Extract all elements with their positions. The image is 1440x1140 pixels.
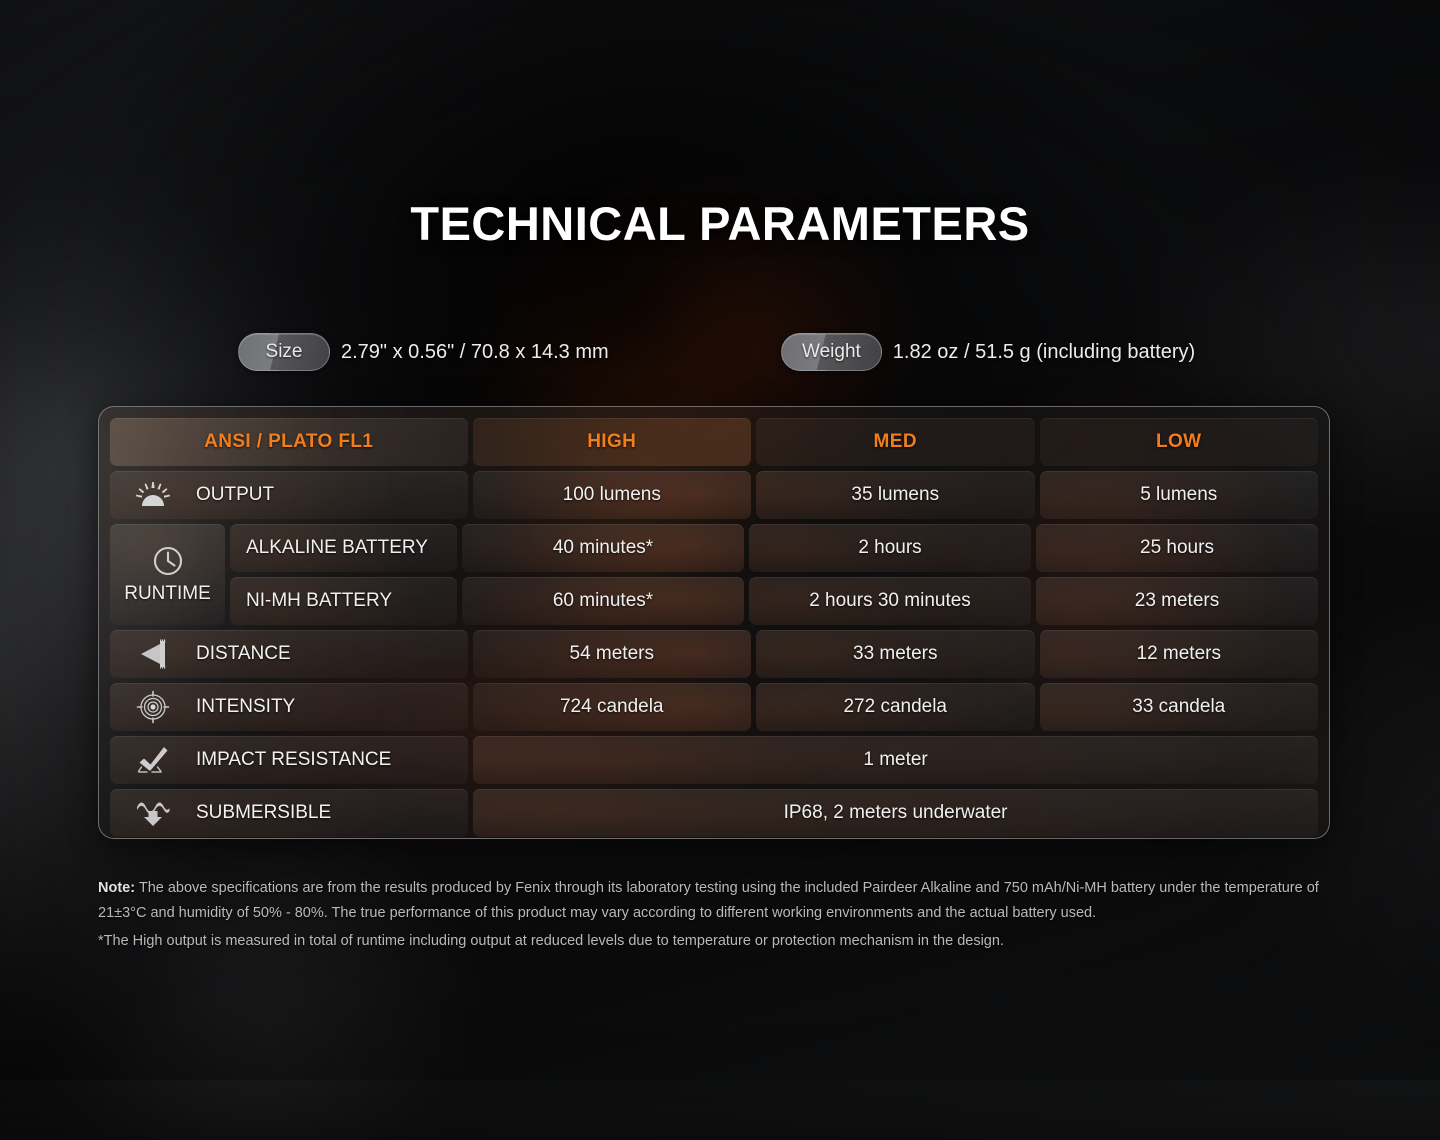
header-label-high: HIGH <box>587 431 636 453</box>
note-label: Note: <box>98 880 135 896</box>
impact-icon <box>110 745 196 775</box>
table-row-impact-resistance: IMPACT RESISTANCE 1 meter <box>110 736 1318 784</box>
row-label-text-impact-resistance: IMPACT RESISTANCE <box>196 749 391 771</box>
row-label-impact-resistance: IMPACT RESISTANCE <box>110 736 468 784</box>
row-label-intensity: INTENSITY <box>110 683 468 731</box>
parameters-table: ANSI / PLATO FL1 HIGH MED LOW <box>98 406 1330 839</box>
technical-parameters-page: TECHNICAL PARAMETERS Size 2.79" x 0.56" … <box>0 0 1440 1080</box>
table-row-output: OUTPUT 100 lumens 35 lumens 5 lumens <box>110 471 1318 519</box>
note-body: The above specifications are from the re… <box>98 880 1319 921</box>
runtime-subrows: ALKALINE BATTERY 40 minutes* 2 hours 25 … <box>230 524 1318 625</box>
sublabel-alkaline-battery: ALKALINE BATTERY <box>230 524 457 572</box>
spec-weight-value: 1.82 oz / 51.5 g (including battery) <box>893 341 1195 364</box>
row-label-output: OUTPUT <box>110 471 468 519</box>
table-subrow-alkaline: ALKALINE BATTERY 40 minutes* 2 hours 25 … <box>230 524 1318 572</box>
table-subrow-nimh: NI-MH BATTERY 60 minutes* 2 hours 30 min… <box>230 577 1318 625</box>
note-footnote: *The High output is measured in total of… <box>98 929 1338 954</box>
row-label-text-output: OUTPUT <box>196 484 274 506</box>
spec-size-pill: Size <box>238 333 330 371</box>
row-label-submersible: SUBMERSIBLE <box>110 789 468 837</box>
row-label-text-submersible: SUBMERSIBLE <box>196 802 331 824</box>
header-label-med: MED <box>874 431 917 453</box>
table-row-runtime: RUNTIME ALKALINE BATTERY 40 minutes* 2 h… <box>110 524 1318 625</box>
header-label-ansi: ANSI / PLATO FL1 <box>204 431 373 453</box>
page-title: TECHNICAL PARAMETERS <box>0 196 1440 251</box>
submersible-icon <box>110 799 196 827</box>
sunburst-icon <box>110 482 196 508</box>
beam-distance-icon <box>110 639 196 669</box>
cell-nimh-low: 23 meters <box>1036 577 1318 625</box>
cell-submersible-value: IP68, 2 meters underwater <box>473 789 1318 837</box>
spec-size: Size 2.79" x 0.56" / 70.8 x 14.3 mm <box>238 333 609 371</box>
cell-distance-med: 33 meters <box>756 630 1035 678</box>
cell-distance-high: 54 meters <box>473 630 752 678</box>
header-cell-high: HIGH <box>473 418 752 466</box>
sublabel-nimh-battery: NI-MH BATTERY <box>230 577 457 625</box>
header-cell-standard: ANSI / PLATO FL1 <box>110 418 468 466</box>
row-label-text-runtime: RUNTIME <box>124 583 211 605</box>
cell-alkaline-high: 40 minutes* <box>462 524 744 572</box>
spec-size-value: 2.79" x 0.56" / 70.8 x 14.3 mm <box>341 341 609 364</box>
target-icon <box>110 690 196 724</box>
clock-icon <box>152 545 184 577</box>
note-paragraph: Note: The above specifications are from … <box>98 876 1338 926</box>
table-header-row: ANSI / PLATO FL1 HIGH MED LOW <box>110 418 1318 466</box>
cell-alkaline-med: 2 hours <box>749 524 1031 572</box>
cell-intensity-low: 33 candela <box>1040 683 1319 731</box>
header-cell-low: LOW <box>1040 418 1319 466</box>
spec-weight-pill: Weight <box>781 333 882 371</box>
cell-impact-resistance-value: 1 meter <box>473 736 1318 784</box>
table-row-intensity: INTENSITY 724 candela 272 candela 33 can… <box>110 683 1318 731</box>
spec-weight: Weight 1.82 oz / 51.5 g (including batte… <box>781 333 1195 371</box>
row-label-text-distance: DISTANCE <box>196 643 291 665</box>
table-row-submersible: SUBMERSIBLE IP68, 2 meters underwater <box>110 789 1318 837</box>
cell-output-high: 100 lumens <box>473 471 752 519</box>
cell-intensity-med: 272 candela <box>756 683 1035 731</box>
row-label-distance: DISTANCE <box>110 630 468 678</box>
row-label-runtime: RUNTIME <box>110 524 225 625</box>
row-label-text-intensity: INTENSITY <box>196 696 295 718</box>
cell-output-med: 35 lumens <box>756 471 1035 519</box>
header-label-low: LOW <box>1156 431 1202 453</box>
header-cell-med: MED <box>756 418 1035 466</box>
table-row-distance: DISTANCE 54 meters 33 meters 12 meters <box>110 630 1318 678</box>
cell-distance-low: 12 meters <box>1040 630 1319 678</box>
cell-nimh-med: 2 hours 30 minutes <box>749 577 1031 625</box>
cell-output-low: 5 lumens <box>1040 471 1319 519</box>
cell-nimh-high: 60 minutes* <box>462 577 744 625</box>
spec-summary: Size 2.79" x 0.56" / 70.8 x 14.3 mm Weig… <box>238 333 1238 371</box>
cell-intensity-high: 724 candela <box>473 683 752 731</box>
note-block: Note: The above specifications are from … <box>98 876 1338 954</box>
cell-alkaline-low: 25 hours <box>1036 524 1318 572</box>
